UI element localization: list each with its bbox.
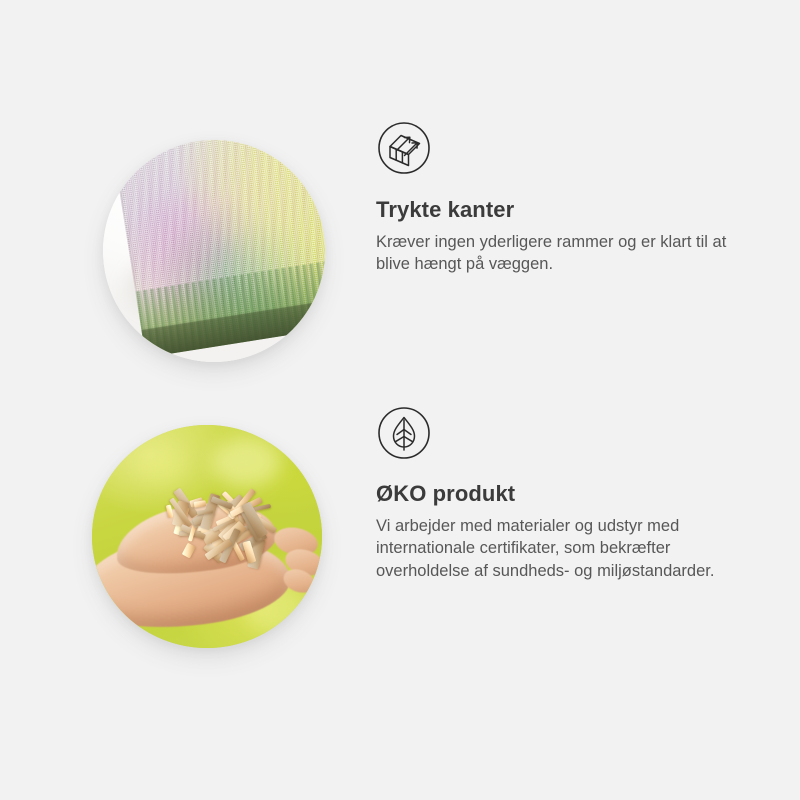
wood-chip-pile [161, 499, 281, 575]
canvas-print-corner-photo [103, 140, 325, 362]
wood-chip [194, 500, 207, 508]
printed-edges-icon [376, 120, 432, 176]
feature-text-printed-edges: Trykte kanter Kræver ingen yderligere ra… [376, 120, 756, 276]
canvas-print-surface [111, 140, 325, 358]
product-features-panel: Trykte kanter Kræver ingen yderligere ra… [0, 0, 800, 800]
feature-description: Vi arbejder med materialer og udstyr med… [376, 515, 751, 582]
bokeh-spot [212, 438, 281, 487]
leaf-icon [376, 405, 432, 461]
feature-text-eco-product: ØKO produkt Vi arbejder med materialer o… [376, 405, 756, 582]
wood-chips-photo-inner [92, 425, 322, 648]
canvas-photo-inner [103, 140, 325, 362]
feature-description: Kræver ingen yderligere rammer og er kla… [376, 231, 751, 276]
feature-title: Trykte kanter [376, 176, 756, 223]
feature-title: ØKO produkt [376, 461, 756, 507]
bokeh-spot [138, 447, 184, 483]
hands-holding-wood-chips-photo [92, 425, 322, 648]
feature-block-printed-edges: Trykte kanter Kræver ingen yderligere ra… [0, 120, 800, 380]
feature-block-eco-product: ØKO produkt Vi arbejder med materialer o… [0, 405, 800, 665]
wood-chip [181, 542, 195, 558]
